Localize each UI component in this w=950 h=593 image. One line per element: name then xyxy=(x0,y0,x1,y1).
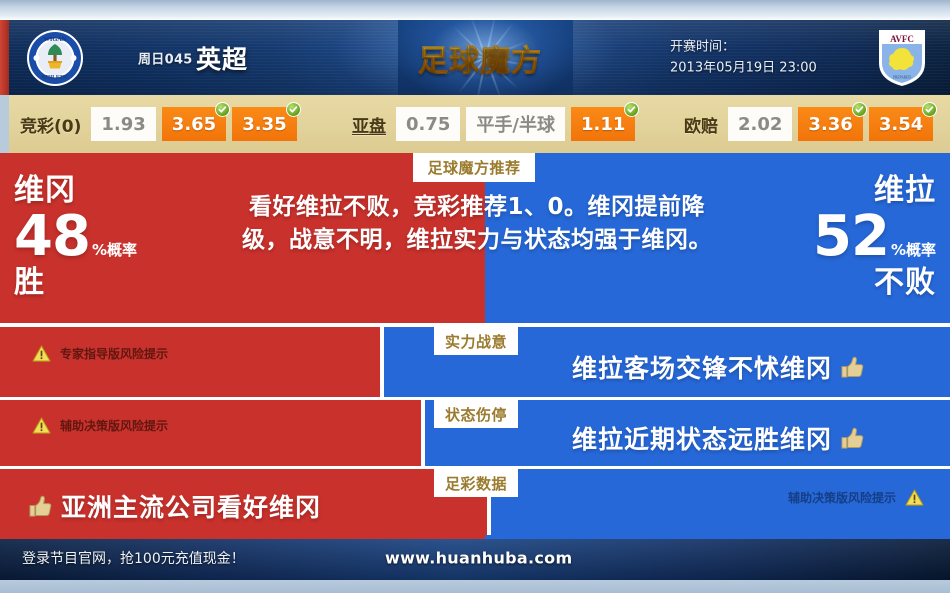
home-probability-block: 维冈 48 % 概率 胜 xyxy=(14,175,137,298)
odds-cell-value: 0.75 xyxy=(406,114,450,135)
risk-note-text: 辅助决策版风险提示 xyxy=(60,417,168,434)
kickoff-label: 开赛时间： xyxy=(670,36,817,57)
odds-bar: 竞彩(0)1.933.653.35 亚盘0.75平手/半球1.11 欧赔2.02… xyxy=(0,95,950,153)
band-badge: 足球魔方推荐 xyxy=(413,153,535,182)
odds-group-oupei: 欧赔2.023.363.54 xyxy=(684,107,939,141)
broadcast-graphic-stage: WIGAN ATHLETIC AVFC PREPARED 周日045 英超 足球… xyxy=(0,0,950,593)
prediction-band: 足球魔方推荐 维冈 48 % 概率 胜 维拉 52 % 概率 不败 看好维拉不败… xyxy=(0,153,950,323)
feature-row: 足彩数据 亚洲主流公司看好维冈 辅助决策版风险提示 xyxy=(0,469,950,535)
home-team-name: 维冈 xyxy=(14,175,137,207)
thumbs-up-icon xyxy=(28,495,53,518)
row-headline-text: 亚洲主流公司看好维冈 xyxy=(61,488,321,524)
brand-logo: 足球魔方 xyxy=(418,36,542,80)
row-headline-text: 维拉客场交锋不怵维冈 xyxy=(572,349,832,385)
footer-bar: 登录节目官网，抢100元充值现金！ www.huanhuba.com xyxy=(0,535,950,580)
svg-text:WIGAN: WIGAN xyxy=(43,36,66,43)
thumbs-up-icon xyxy=(840,356,865,379)
home-percent-symbol: % xyxy=(92,243,107,258)
odds-cell[interactable]: 0.75 xyxy=(396,107,460,141)
row-headline: 维拉客场交锋不怵维冈 xyxy=(572,349,865,385)
check-icon xyxy=(215,102,230,117)
risk-note: 专家指导版风险提示 xyxy=(32,345,168,362)
odds-cell-value: 平手/半球 xyxy=(476,111,555,137)
feature-row: 状态伤停 辅助决策版风险提示 维拉近期状态远胜维冈 xyxy=(0,400,950,466)
risk-note: 辅助决策版风险提示 xyxy=(788,489,924,506)
odds-cell[interactable]: 3.54 xyxy=(869,107,933,141)
odds-group-yapan: 亚盘0.75平手/半球1.11 xyxy=(352,107,641,141)
odds-group-label: 欧赔 xyxy=(684,112,718,137)
league-name: 英超 xyxy=(196,40,248,76)
odds-cell[interactable]: 3.36 xyxy=(798,107,862,141)
analysis-text: 看好维拉不败，竞彩推荐1、0。维冈提前降级，战意不明，维拉实力与状态均强于维冈。 xyxy=(238,191,716,256)
away-probability-word: 概率 xyxy=(906,243,936,258)
odds-cell[interactable]: 2.02 xyxy=(728,107,792,141)
odds-cell-value: 3.54 xyxy=(879,114,923,135)
warning-triangle-icon xyxy=(32,345,51,362)
kickoff-info: 开赛时间： 2013年05月19日 23:00 xyxy=(670,36,817,79)
odds-cell-value: 3.35 xyxy=(242,114,286,135)
warning-triangle-icon xyxy=(32,417,51,434)
odds-cell[interactable]: 3.35 xyxy=(232,107,296,141)
risk-note: 辅助决策版风险提示 xyxy=(32,417,168,434)
svg-text:AVFC: AVFC xyxy=(890,34,914,44)
home-probability-word: 概率 xyxy=(107,243,137,258)
odds-group-label: 竞彩(0) xyxy=(20,112,81,137)
kickoff-time: 2013年05月19日 23:00 xyxy=(670,58,817,79)
odds-cell-value: 1.93 xyxy=(101,114,145,135)
home-team-crest-icon: WIGAN ATHLETIC xyxy=(26,29,84,87)
away-probability-block: 维拉 52 % 概率 不败 xyxy=(813,175,936,298)
risk-note-text: 专家指导版风险提示 xyxy=(60,345,168,362)
thumbs-up-icon xyxy=(840,427,865,450)
check-icon xyxy=(852,102,867,117)
warning-triangle-icon xyxy=(905,489,924,506)
away-outcome-label: 不败 xyxy=(813,267,936,299)
svg-text:PREPARED: PREPARED xyxy=(893,75,911,79)
row-red-half xyxy=(0,327,380,397)
odds-cell-value: 2.02 xyxy=(738,114,782,135)
match-header: WIGAN ATHLETIC AVFC PREPARED 周日045 英超 足球… xyxy=(0,20,950,95)
feature-row: 实力战意 专家指导版风险提示 维拉客场交锋不怵维冈 xyxy=(0,327,950,397)
home-probability-value: 48 xyxy=(14,209,90,265)
row-headline: 维拉近期状态远胜维冈 xyxy=(572,420,865,456)
odds-cell-value: 3.36 xyxy=(808,114,852,135)
row-tab: 足彩数据 xyxy=(434,469,518,497)
footer-promo-text: 登录节目官网，抢100元充值现金！ xyxy=(22,548,245,568)
row-headline: 亚洲主流公司看好维冈 xyxy=(28,488,321,524)
match-number: 周日045 xyxy=(138,48,193,67)
odds-cell[interactable]: 1.11 xyxy=(571,107,635,141)
odds-bar-accent xyxy=(0,95,9,153)
home-outcome-label: 胜 xyxy=(14,267,137,299)
odds-cell[interactable]: 3.65 xyxy=(162,107,226,141)
check-icon xyxy=(624,102,639,117)
odds-cell[interactable]: 平手/半球 xyxy=(466,107,565,141)
away-team-crest-icon: AVFC PREPARED xyxy=(876,27,928,89)
odds-cell[interactable]: 1.93 xyxy=(91,107,155,141)
away-probability-value: 52 xyxy=(813,209,889,265)
odds-cell-value: 3.65 xyxy=(172,114,216,135)
check-icon xyxy=(286,102,301,117)
row-tab: 实力战意 xyxy=(434,327,518,355)
odds-group-jingcai: 竞彩(0)1.933.653.35 xyxy=(20,107,303,141)
row-tab: 状态伤停 xyxy=(434,400,518,428)
risk-note-text: 辅助决策版风险提示 xyxy=(788,489,896,506)
footer-website-url: www.huanhuba.com xyxy=(385,548,572,567)
check-icon xyxy=(922,102,937,117)
svg-text:ATHLETIC: ATHLETIC xyxy=(41,74,69,80)
odds-cell-value: 1.11 xyxy=(581,114,625,135)
odds-group-label: 亚盘 xyxy=(352,112,386,137)
away-percent-symbol: % xyxy=(891,243,906,258)
away-team-name: 维拉 xyxy=(813,175,936,207)
row-headline-text: 维拉近期状态远胜维冈 xyxy=(572,420,832,456)
header-accent-bar xyxy=(0,20,9,95)
